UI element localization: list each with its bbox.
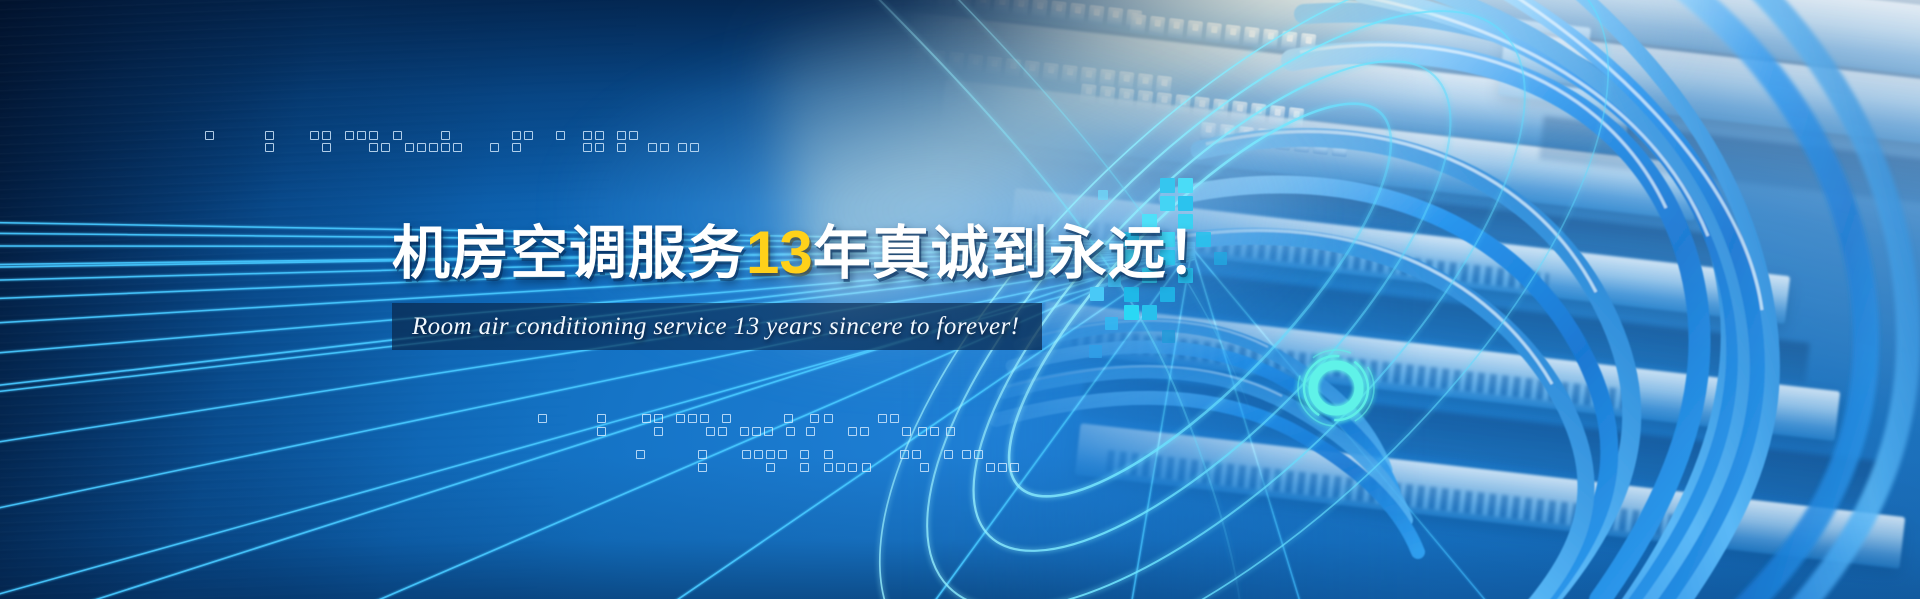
headline-years-number: 13 [746,219,813,286]
page-title: 机房空调服务13年真诚到永远！ [392,206,1226,290]
headline-prefix: 机房空调服务 [392,221,746,286]
hud-ring-icon [1288,340,1384,436]
promo-banner: 机房空调服务13年真诚到永远！ Room air conditioning se… [0,0,1920,599]
page-subtitle: Room air conditioning service 13 years s… [412,303,1042,350]
headline-suffix: 年真诚到永远！ [813,221,1226,286]
